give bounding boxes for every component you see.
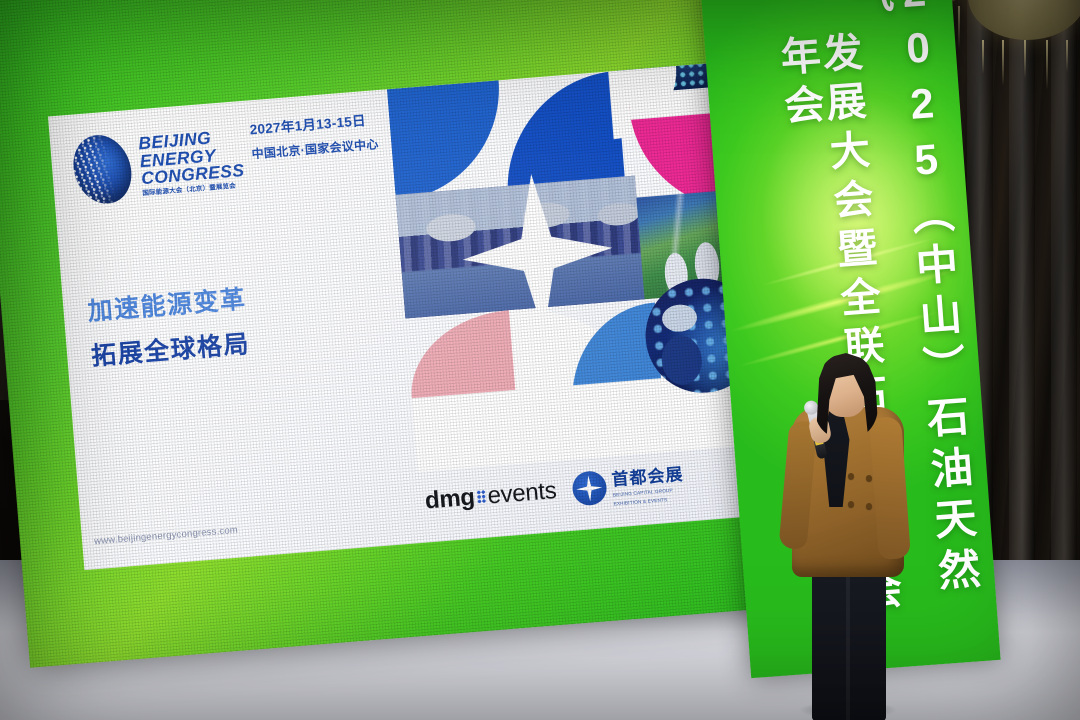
blazer-button: [848, 501, 854, 507]
speaker-person: [770, 355, 920, 720]
led-screen-wall: BEIJING ENERGY CONGRESS 国际能源大会（北京）暨展览会 2…: [0, 0, 828, 668]
collage-shape-pink-quarter: [405, 310, 515, 398]
stage-photo: BEIJING ENERGY CONGRESS 国际能源大会（北京）暨展览会 2…: [0, 0, 1080, 720]
four-point-star-icon: [571, 470, 608, 507]
headline-line-2: 拓展全球格局: [90, 324, 251, 373]
blazer-button: [866, 475, 872, 481]
capital-logo-text: 首都会展 BEIJING CAPITAL GROUP EXHIBITION & …: [610, 460, 685, 507]
website-url: www.beijingenergycongress.com: [94, 525, 239, 548]
dmg-logo-prefix: dmg: [424, 484, 476, 516]
headline-line-1: 加速能源变革: [86, 279, 247, 328]
dmg-logo-suffix: events: [487, 477, 558, 510]
capital-exhibition-logo: 首都会展 BEIJING CAPITAL GROUP EXHIBITION & …: [571, 460, 686, 511]
beijing-energy-congress-logo: BEIJING ENERGY CONGRESS 国际能源大会（北京）暨展览会: [72, 123, 246, 206]
dmg-dots-icon: [476, 490, 486, 504]
halftone-globe-icon: [64, 127, 141, 212]
collage-shape-blue-quarter: [387, 80, 508, 201]
dmg-events-logo: dmg events: [424, 477, 558, 515]
event-venue: 中国北京·国家会议中心: [251, 135, 379, 162]
logo-wordmark: BEIJING ENERGY CONGRESS 国际能源大会（北京）暨展览会: [138, 127, 246, 197]
event-date-block: 2027年1月13-15日 中国北京·国家会议中心: [249, 108, 379, 162]
blazer-button: [866, 503, 872, 509]
pillar: [1051, 0, 1077, 640]
slide-headline: 加速能源变革 拓展全球格局: [86, 279, 251, 372]
event-date: 2027年1月13-15日: [249, 108, 377, 138]
pillar: [1009, 0, 1035, 640]
blazer-button: [848, 473, 854, 479]
presentation-slide: BEIJING ENERGY CONGRESS 国际能源大会（北京）暨展览会 2…: [48, 61, 772, 570]
capital-logo-cn: 首都会展: [610, 460, 684, 491]
